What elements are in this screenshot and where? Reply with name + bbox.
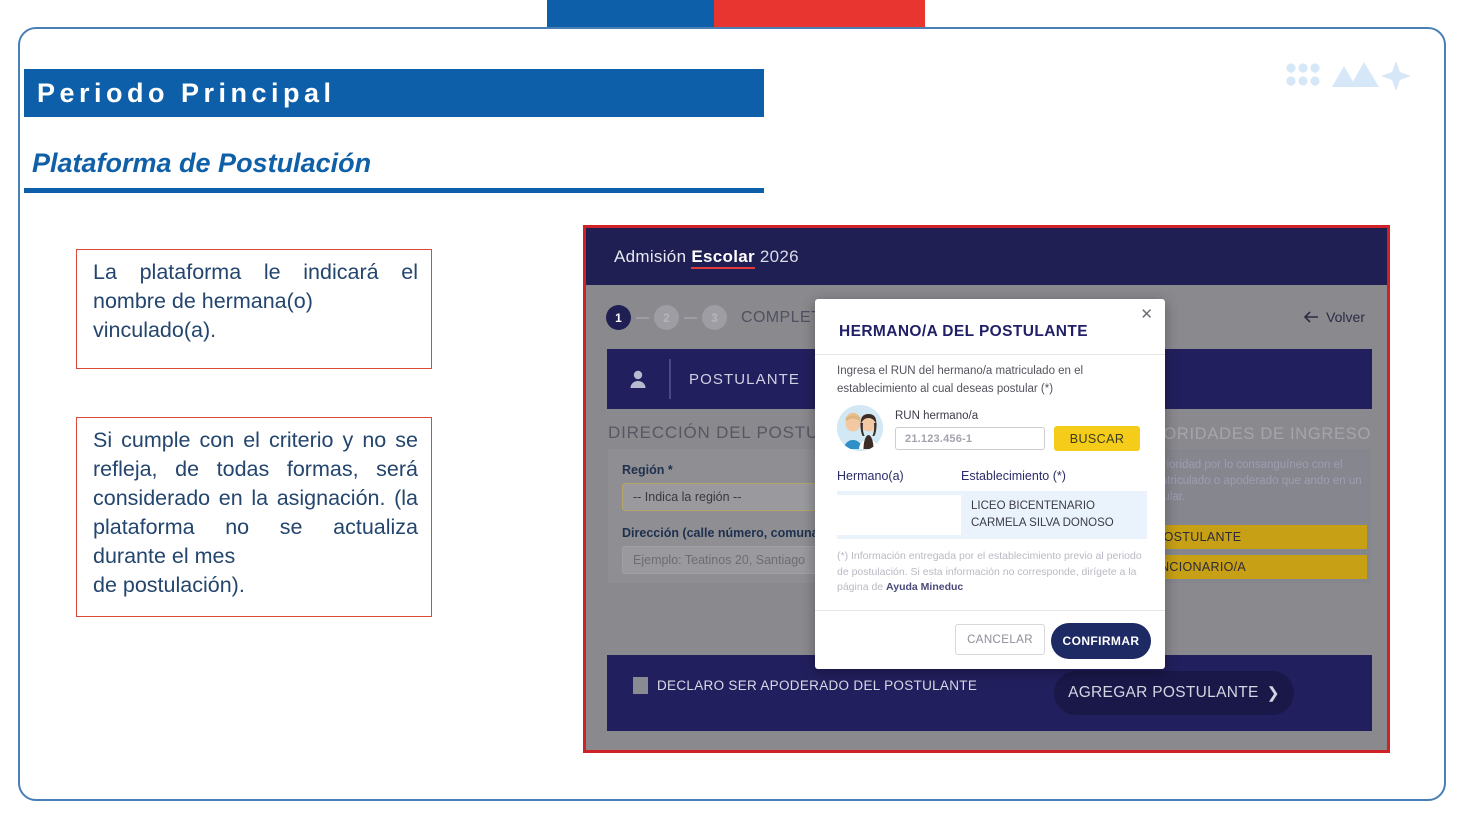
flag-blue-block — [547, 0, 714, 28]
buscar-button[interactable]: BUSCAR — [1054, 426, 1140, 451]
modal-footnote: (*) Información entregada por el estable… — [837, 549, 1147, 596]
callout-2-line-1: Si cumple con el criterio y no se reflej… — [93, 426, 418, 571]
ayuda-mineduc-link[interactable]: Ayuda Mineduc — [886, 581, 963, 593]
agregar-postulante-button[interactable]: AGREGAR POSTULANTE ❯ — [1054, 671, 1294, 715]
modal-footnote-text: (*) Información entregada por el estable… — [837, 550, 1142, 593]
table-row: LICEO BICENTENARIO CARMELA SILVA DONOSO — [837, 491, 1147, 539]
flag-strip — [0, 0, 1472, 28]
callout-indica-nombre: La plataforma le indicará el nombre de h… — [76, 249, 432, 369]
person-icon — [623, 369, 653, 389]
cancel-button[interactable]: CANCELAR — [955, 624, 1045, 655]
app-screenshot-frame: Admisión Escolar 2026 1 2 3 COMPLETA DAT… — [583, 225, 1390, 753]
run-input-group: 21.123.456-1 BUSCAR — [895, 426, 1147, 451]
subtitle-underline — [24, 188, 764, 193]
app-body: 1 2 3 COMPLETA DATOS DE Volver POSTULANT — [586, 285, 1387, 750]
callout-1-line-1: La plataforma le indicará el nombre de h… — [93, 258, 418, 316]
hermano-modal: ✕ HERMANO/A DEL POSTULANTE Ingresa el RU… — [815, 299, 1165, 669]
arrow-left-icon — [1304, 311, 1319, 323]
step-separator — [636, 317, 649, 319]
callout-criterio: Si cumple con el criterio y no se reflej… — [76, 417, 432, 617]
step-dot-2[interactable]: 2 — [654, 305, 679, 330]
step-separator — [684, 317, 697, 319]
col-header-hermano: Hermano(a) — [837, 469, 961, 483]
direccion-input-placeholder: Ejemplo: Teatinos 20, Santiago — [633, 553, 805, 567]
modal-title: HERMANO/A DEL POSTULANTE — [839, 323, 1088, 341]
back-link-label: Volver — [1326, 309, 1365, 325]
slide-subtitle: Plataforma de Postulación — [32, 148, 772, 179]
page-title: Periodo Principal — [24, 78, 336, 109]
declaro-label: DECLARO SER APODERADO DEL POSTULANTE — [657, 678, 977, 693]
brand-year: 2026 — [760, 247, 799, 266]
run-field-group: RUN hermano/a 21.123.456-1 BUSCAR — [895, 410, 1147, 451]
agregar-postulante-label: AGREGAR POSTULANTE — [1068, 684, 1259, 702]
step-dot-1[interactable]: 1 — [606, 305, 631, 330]
chevron-right-icon: ❯ — [1267, 684, 1280, 703]
callout-2-line-2: de postulación). — [93, 571, 418, 600]
app-header: Admisión Escolar 2026 — [586, 228, 1387, 285]
siblings-avatar-icon — [837, 405, 883, 451]
declaro-checkbox[interactable] — [633, 677, 648, 694]
close-icon[interactable]: ✕ — [1140, 307, 1153, 322]
flag-red-block — [714, 0, 925, 28]
back-link[interactable]: Volver — [1304, 309, 1365, 325]
modal-header-divider — [815, 354, 1165, 355]
brand-prefix: Admisión — [614, 247, 686, 266]
postulante-band-label: POSTULANTE — [689, 371, 800, 388]
cell-hermano — [837, 495, 961, 535]
run-label: RUN hermano/a — [895, 410, 1147, 422]
brand-bold: Escolar — [691, 247, 755, 269]
step-dot-3[interactable]: 3 — [702, 305, 727, 330]
result-table-header: Hermano(a) Establecimiento (*) — [837, 469, 1147, 483]
modal-footer-divider — [815, 610, 1165, 611]
run-input[interactable]: 21.123.456-1 — [895, 427, 1045, 450]
callout-1-line-2: vinculado(a). — [93, 316, 418, 345]
run-search-row: RUN hermano/a 21.123.456-1 BUSCAR — [837, 405, 1147, 451]
region-select-value: -- Indica la región -- — [633, 490, 741, 504]
modal-intro-text: Ingresa el RUN del hermano/a matriculado… — [837, 363, 1143, 398]
app-brand-logo: Admisión Escolar 2026 — [586, 247, 799, 267]
brand-logo-icon — [1284, 58, 1414, 96]
cell-establecimiento: LICEO BICENTENARIO CARMELA SILVA DONOSO — [961, 491, 1147, 539]
band-divider — [669, 359, 671, 399]
col-header-establecimiento: Establecimiento (*) — [961, 469, 1066, 483]
declaro-checkbox-row[interactable]: DECLARO SER APODERADO DEL POSTULANTE — [633, 677, 977, 694]
slide-title-band: Periodo Principal — [24, 69, 764, 117]
confirm-button[interactable]: CONFIRMAR — [1051, 623, 1151, 659]
